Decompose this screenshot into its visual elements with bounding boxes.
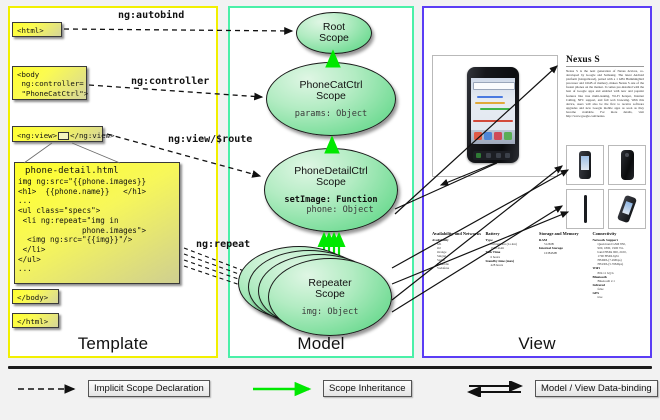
spec-heading-connectivity: Connectivity	[593, 231, 645, 236]
spec-value-internal-storage: 16384MB	[539, 251, 591, 255]
thumb-phone-edge	[584, 195, 587, 223]
code-box-body-close: </body>	[12, 289, 59, 304]
phone-screen	[471, 78, 515, 144]
phone-key-call	[476, 153, 481, 158]
scope-phonecatctrl-line2: Scope	[316, 91, 346, 103]
spec-value-gps: true	[593, 295, 645, 299]
phone-wallpaper-line-4	[473, 120, 513, 122]
spec-value-standby: 428 hours	[486, 263, 538, 267]
panel-label-template: Template	[10, 334, 216, 354]
legend-item-implicit-scope-declaration: Implicit Scope Declaration	[16, 380, 210, 397]
dock-icon-4	[504, 132, 512, 140]
spec-heading-battery: Battery	[486, 231, 538, 236]
legend-item-scope-inheritance: Scope Inheritance	[251, 380, 412, 397]
connector-label-autobind: ng:autobind	[118, 10, 184, 21]
connector-label-controller: ng:controller	[131, 76, 209, 87]
spec-column-connectivity: Connectivity Network Support Quad-band G…	[593, 231, 645, 309]
scope-root-line2: Scope	[319, 33, 349, 45]
thumbnail-side-edge[interactable]	[566, 189, 604, 229]
code-box-html-close: </html>	[12, 313, 59, 328]
legend-label-implicit: Implicit Scope Declaration	[88, 380, 210, 397]
dashed-arrow-icon	[16, 381, 82, 397]
connector-label-route: ng:view/$route	[168, 134, 252, 145]
scope-phonedetailctrl: PhoneDetailCtrl Scope setImage: Function…	[264, 148, 398, 232]
phone-key-back	[505, 153, 510, 158]
legend: Implicit Scope Declaration Scope Inherit…	[8, 378, 652, 406]
connector-label-repeat: ng:repeat	[196, 239, 250, 250]
phone-wallpaper-line-2	[475, 102, 505, 104]
scope-phonecatctrl: PhoneCatCtrl Scope params: Object	[266, 62, 396, 136]
green-arrow-icon	[251, 381, 317, 397]
scope-phonecatctrl-prop-params: params: Object	[295, 109, 367, 119]
ng-view-close-tag: </ng:view>	[70, 131, 115, 140]
spec-column-battery: Battery Type Lithium Ion (Li-Ion) 1500 m…	[486, 231, 538, 309]
code-box-ng-view: <ng:view></ng:view>	[12, 126, 103, 142]
legend-label-inheritance: Scope Inheritance	[323, 380, 412, 397]
spec-column-availability: Availability and Networks Availability M…	[432, 231, 484, 309]
product-description-column: Nexus S Nexus S is the next generation o…	[566, 55, 644, 118]
ng-view-open-tag: <ng:view>	[17, 131, 57, 140]
thumbnail-front-angle[interactable]	[566, 145, 604, 185]
phone-key-home	[486, 153, 491, 158]
thumb-phone-screen-1	[581, 156, 589, 170]
panel-label-model: Model	[230, 334, 412, 354]
scope-repeater-prop-img: img: Object	[302, 307, 359, 317]
legend-label-databinding: Model / View Data-binding	[535, 380, 658, 397]
rendered-view-page: Nexus S Nexus S is the next generation o…	[432, 55, 644, 305]
scope-root: Root Scope	[296, 12, 372, 54]
legend-divider	[8, 366, 652, 369]
hero-image-frame	[432, 55, 558, 177]
phone-dock	[471, 130, 515, 144]
scope-phonedetailctrl-prop-phone: phone: Object	[306, 205, 373, 215]
code-box-body-tag: <body ng:controller= "PhoneCatCtrl">	[12, 66, 87, 100]
dock-icon-1	[474, 132, 482, 140]
phone-wallpaper-line-3	[480, 108, 510, 110]
spec-heading-availability: Availability and Networks	[432, 231, 484, 236]
ng-view-placeholder-icon	[58, 132, 69, 140]
callout-code: img ng:src="{{phone.images}} <h1> {{phon…	[15, 177, 179, 274]
double-arrow-icon	[463, 381, 529, 397]
code-box-html-open: <html>	[12, 22, 62, 37]
callout-phone-detail-template: phone-detail.html img ng:src="{{phone.im…	[14, 162, 180, 284]
phone-capacitive-keys	[473, 151, 513, 160]
legend-item-data-binding: Model / View Data-binding	[463, 380, 658, 397]
product-title: Nexus S	[566, 55, 644, 67]
dock-icon-2	[484, 132, 492, 140]
panel-label-view: View	[424, 334, 650, 354]
diagram-canvas: Template <html> <body ng:controller= "Ph…	[0, 0, 660, 420]
thumbnail-back[interactable]	[608, 145, 646, 185]
phone-search-bar-icon	[473, 82, 515, 90]
phone-key-menu	[496, 153, 501, 158]
callout-title: phone-detail.html	[15, 163, 179, 177]
product-description: Nexus S is the next generation of Nexus …	[566, 69, 644, 118]
spec-values-availability-7: Vodafone	[432, 266, 484, 270]
specs-table: Availability and Networks Availability M…	[432, 231, 644, 309]
spec-column-storage: Storage and Memory RAM 512MB Internal St…	[539, 231, 591, 309]
nexus-s-phone-image	[467, 67, 519, 163]
scope-repeater: Repeater Scope img: Object	[268, 258, 392, 336]
scope-repeater-line2: Scope	[315, 289, 345, 301]
scope-phonedetailctrl-prop-setimage: setImage: Function	[284, 195, 377, 205]
thumbnail-tilted[interactable]	[608, 189, 646, 229]
scope-phonedetailctrl-line2: Scope	[316, 177, 346, 189]
dock-icon-3	[494, 132, 502, 140]
spec-heading-storage: Storage and Memory	[539, 231, 591, 236]
phone-wallpaper-line-1	[477, 96, 503, 98]
thumb-camera-lens	[625, 153, 629, 157]
